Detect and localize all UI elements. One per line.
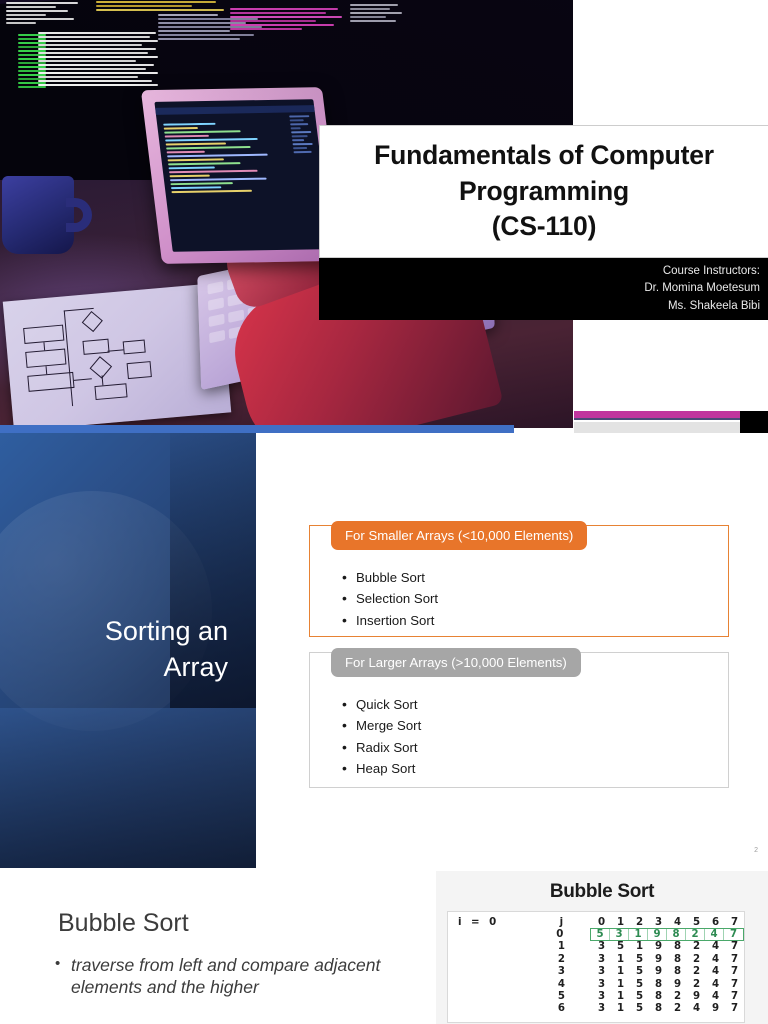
table-row: 631582497 (448, 1003, 744, 1015)
flowchart-node (123, 340, 146, 355)
array-cell: 1 (630, 941, 649, 952)
array-cell: 5 (630, 991, 649, 1002)
array-cell: 7 (725, 991, 744, 1002)
array-cell: 5 (630, 954, 649, 965)
tablet-code (163, 122, 297, 233)
flowchart-node (127, 361, 152, 379)
slide-3-bullet-list: traverse from left and compare adjacent … (55, 954, 425, 999)
instructor-name-2: Ms. Shakeela Bibi (319, 298, 760, 315)
flowchart-decision (82, 311, 103, 332)
bubble-sort-table: i = 0 j 0 1 2 3 4 5 6 7 0531982471351982… (447, 911, 745, 1023)
list-item: Merge Sort (342, 715, 421, 736)
column-index: 5 (687, 917, 706, 928)
array-cell: 9 (649, 954, 668, 965)
array-cell: 8 (668, 954, 687, 965)
instructors-card: Course Instructors: Dr. Momina Moetesum … (319, 258, 768, 320)
list-item: Selection Sort (342, 588, 438, 609)
flowchart-node (23, 325, 64, 344)
column-index: 1 (611, 917, 630, 928)
instructor-name-1: Dr. Momina Moetesum (319, 280, 760, 297)
index-header-values: 0 1 2 3 4 5 6 7 (592, 917, 744, 928)
array-cell: 5 (630, 979, 649, 990)
row-j-value: 1 (531, 941, 592, 952)
keyboard-key (209, 314, 225, 327)
table-row: 135198247 (448, 941, 744, 953)
array-cell: 7 (725, 941, 744, 952)
flowchart-connector (46, 366, 48, 374)
array-cell: 9 (706, 1003, 725, 1014)
instructors-label: Course Instructors: (319, 263, 760, 280)
array-cell: 9 (687, 991, 706, 1002)
console-log-right (350, 4, 404, 38)
column-index: 3 (649, 917, 668, 928)
console-log-magenta (230, 8, 346, 48)
row-j-value: 4 (531, 979, 592, 990)
array-cell: 4 (706, 991, 725, 1002)
title-line-3: (CS-110) (492, 211, 596, 241)
array-cell: 8 (668, 941, 687, 952)
blue-accent-strip (0, 425, 514, 433)
larger-arrays-list: Quick Sort Merge Sort Radix Sort Heap So… (342, 694, 421, 780)
row-array-values: 31582497 (592, 1003, 744, 1014)
list-item: Heap Sort (342, 758, 421, 779)
slide-2-title-panel: Sorting an Array (0, 433, 256, 868)
row-j-value: 0 (530, 929, 590, 940)
array-cell: 9 (668, 979, 687, 990)
row-array-values: 31589247 (592, 979, 744, 990)
array-cell: 7 (725, 954, 744, 965)
flowchart-paper (3, 283, 232, 428)
array-cell: 2 (686, 929, 705, 940)
larger-arrays-header-label: For Larger Arrays (>10,000 Elements) (345, 655, 567, 670)
smaller-arrays-header: For Smaller Arrays (<10,000 Elements) (331, 521, 587, 550)
column-index: 6 (706, 917, 725, 928)
array-cell: 4 (687, 1003, 706, 1014)
slide-2-sorting-an-array: Sorting an Array For Smaller Arrays (<10… (0, 433, 768, 868)
array-cell: 8 (649, 991, 668, 1002)
flowchart-node (82, 339, 109, 355)
flowchart-connector (74, 378, 92, 381)
array-cell: 1 (629, 929, 648, 940)
tablet-tab-bar (155, 105, 315, 115)
array-cell: 4 (706, 954, 725, 965)
list-item: Insertion Sort (342, 610, 438, 631)
column-index: 7 (725, 917, 744, 928)
array-cell: 3 (610, 929, 629, 940)
flowchart-node (25, 348, 66, 367)
array-cell: 3 (592, 979, 611, 990)
j-column-label: j (531, 917, 592, 928)
array-cell: 9 (649, 941, 668, 952)
array-cell: 5 (591, 929, 610, 940)
slide-3-title: Bubble Sort (58, 909, 189, 938)
array-cell: 8 (649, 979, 668, 990)
flowchart-connector (64, 308, 94, 312)
slide-2-title: Sorting an Array (28, 613, 228, 685)
array-cell: 2 (687, 954, 706, 965)
array-cell: 2 (687, 979, 706, 990)
flowchart-connector (102, 375, 104, 385)
tablet-screen (154, 99, 331, 252)
array-cell: 7 (724, 929, 743, 940)
array-cell: 3 (592, 966, 611, 977)
array-cell: 1 (611, 991, 630, 1002)
array-cell: 7 (725, 979, 744, 990)
tablet-device (141, 87, 343, 264)
bubble-sort-figure: Bubble Sort i = 0 j 0 1 2 3 4 5 6 7 (436, 871, 768, 1024)
row-j-value: 5 (531, 991, 592, 1002)
array-cell: 7 (725, 966, 744, 977)
black-corner-block (740, 411, 768, 433)
smaller-arrays-header-label: For Smaller Arrays (<10,000 Elements) (345, 528, 573, 543)
row-j-value: 6 (531, 1003, 592, 1014)
array-cell: 5 (630, 1003, 649, 1014)
slide-2-title-line-2: Array (163, 652, 228, 682)
flowchart-node (27, 372, 74, 392)
row-array-values: 31598247 (592, 954, 744, 965)
array-cell: 1 (611, 966, 630, 977)
list-item: Quick Sort (342, 694, 421, 715)
column-index: 4 (668, 917, 687, 928)
array-cell: 3 (592, 954, 611, 965)
array-cell: 1 (611, 1003, 630, 1014)
table-header-row: i = 0 j 0 1 2 3 4 5 6 7 (448, 916, 744, 928)
array-cell: 9 (648, 929, 667, 940)
array-cell: 5 (611, 941, 630, 952)
decorative-band (0, 708, 256, 868)
array-cell: 4 (705, 929, 724, 940)
page-title: Fundamentals of Computer Programming (CS… (374, 138, 714, 245)
title-line-1: Fundamentals of Computer (374, 140, 714, 170)
title-card: Fundamentals of Computer Programming (CS… (319, 125, 768, 258)
array-cell: 2 (687, 966, 706, 977)
flowchart-connector (107, 349, 123, 352)
keyboard-key (207, 281, 223, 294)
bubble-sort-figure-title: Bubble Sort (436, 881, 768, 903)
slide-1-title-slide: Fundamentals of Computer Programming (CS… (0, 0, 768, 433)
gray-footer-block (574, 422, 740, 433)
keyboard-key (208, 297, 224, 310)
slide-2-title-line-1: Sorting an (105, 616, 228, 646)
array-cell: 2 (668, 991, 687, 1002)
magenta-accent-bar (574, 411, 740, 420)
slide-deck-page: Fundamentals of Computer Programming (CS… (0, 0, 768, 1024)
list-item: Radix Sort (342, 737, 421, 758)
array-cell: 7 (725, 1003, 744, 1014)
list-item: Bubble Sort (342, 567, 438, 588)
terminal-code-left (6, 2, 86, 32)
table-row: 431589247 (448, 978, 744, 990)
array-cell: 8 (668, 966, 687, 977)
table-row: 331598247 (448, 966, 744, 978)
row-array-values: 53198247 (590, 928, 744, 941)
array-cell: 8 (667, 929, 686, 940)
smaller-arrays-list: Bubble Sort Selection Sort Insertion Sor… (342, 567, 438, 631)
array-cell: 1 (611, 954, 630, 965)
row-j-value: 2 (531, 954, 592, 965)
slide-3-bubble-sort: Bubble Sort traverse from left and compa… (0, 868, 768, 1024)
title-line-2: Programming (459, 176, 629, 206)
iteration-label: i = 0 (448, 917, 531, 928)
array-cell: 1 (611, 979, 630, 990)
table-row: 531582947 (448, 990, 744, 1002)
flowchart-node (94, 383, 127, 400)
keyboard-key (209, 330, 225, 343)
array-cell: 3 (592, 941, 611, 952)
keyboard-key (228, 309, 244, 322)
slide-2-page-number: 2 (754, 847, 758, 854)
table-row: 231598247 (448, 953, 744, 965)
array-cell: 2 (687, 941, 706, 952)
array-cell: 8 (649, 1003, 668, 1014)
row-array-values: 31598247 (592, 966, 744, 977)
larger-arrays-header: For Larger Arrays (>10,000 Elements) (331, 648, 581, 677)
array-cell: 4 (706, 979, 725, 990)
array-cell: 4 (706, 966, 725, 977)
flowchart-connector (43, 342, 45, 350)
array-cell: 5 (630, 966, 649, 977)
array-cell: 9 (649, 966, 668, 977)
array-cell: 2 (668, 1003, 687, 1014)
list-item: traverse from left and compare adjacent … (55, 954, 425, 999)
column-index: 0 (592, 917, 611, 928)
array-cell: 4 (706, 941, 725, 952)
row-array-values: 31582947 (592, 991, 744, 1002)
row-j-value: 3 (531, 966, 592, 977)
array-cell: 3 (592, 991, 611, 1002)
row-array-values: 35198247 (592, 941, 744, 952)
bubble-sort-rows: 0531982471351982472315982473315982474315… (448, 928, 744, 1015)
coffee-mug (2, 176, 74, 254)
array-cell: 3 (592, 1003, 611, 1014)
column-index: 2 (630, 917, 649, 928)
table-row: 053198247 (448, 928, 744, 940)
